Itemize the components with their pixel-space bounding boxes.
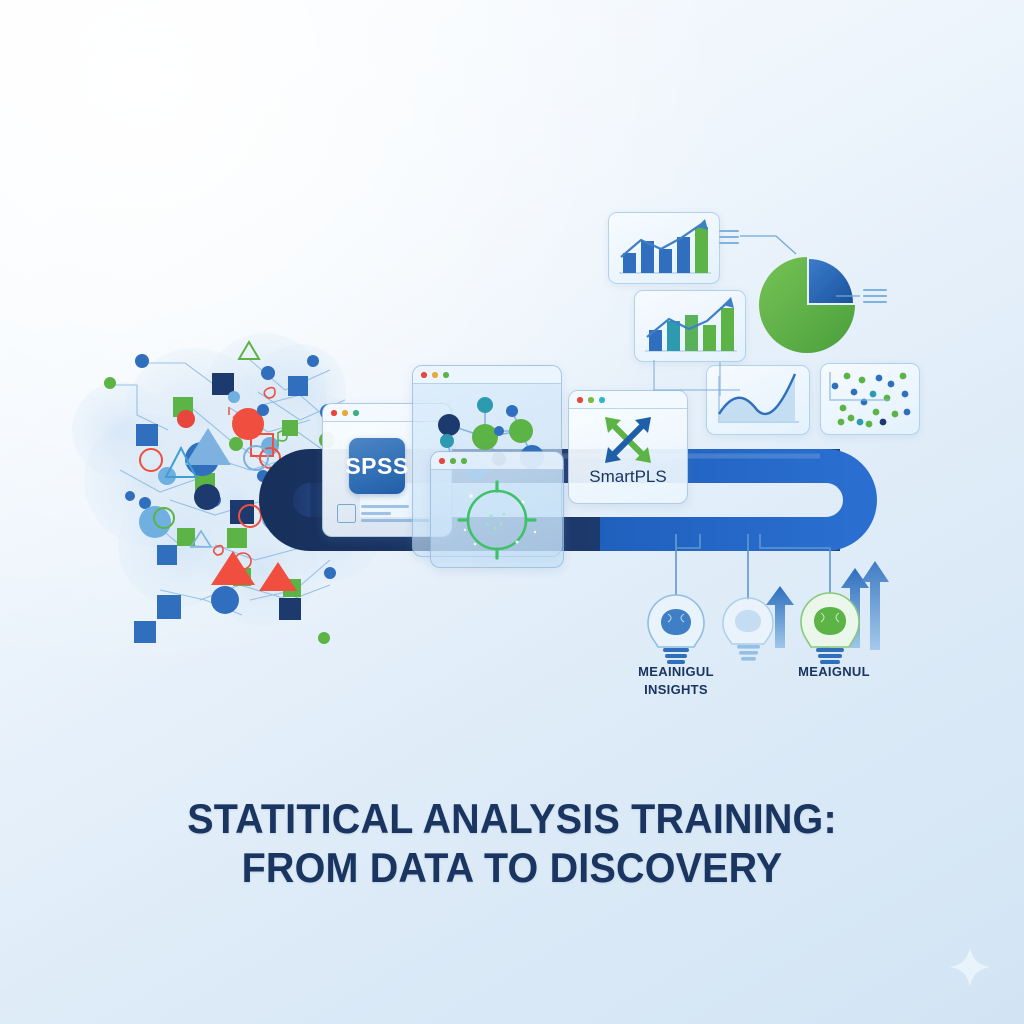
page-title: STATITICAL ANALYSIS TRAINING: FROM DATA … [0, 795, 1024, 892]
lightbulb-brain-icon-3 [801, 593, 859, 664]
four-point-star-icon [948, 945, 992, 989]
lightbulb-brain-icon-2 [723, 598, 773, 661]
poster-canvas: SPSS [0, 0, 1024, 1024]
insight-label-1: MEAINIGUL INSIGHTS [612, 663, 740, 698]
title-line-1: STATITICAL ANALYSIS TRAINING: [31, 795, 994, 844]
insight-label-3: MEAIGNUL [770, 663, 898, 681]
title-line-2: FROM DATA TO DISCOVERY [31, 844, 994, 893]
lightbulb-brain-icon-1 [648, 595, 704, 664]
